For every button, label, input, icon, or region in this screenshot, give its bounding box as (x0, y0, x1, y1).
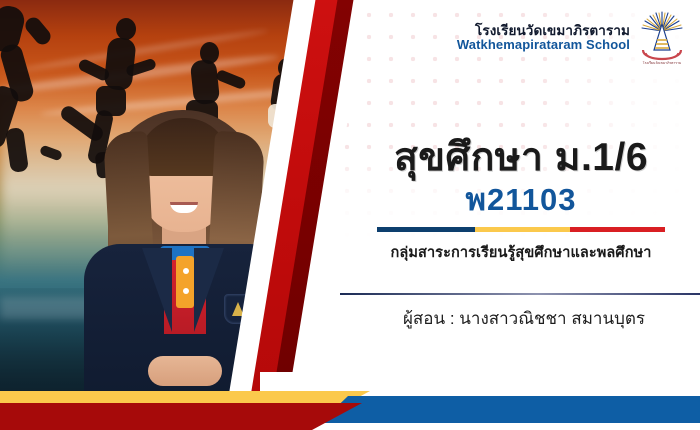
school-name-en: Watkhemapirataram School (457, 38, 630, 53)
horizontal-rule (340, 293, 700, 295)
divider-segment-yellow (475, 227, 570, 232)
school-royal-crest-logo: โรงเรียนวัดเขมาภิรตาราม (636, 10, 688, 66)
svg-text:โรงเรียนวัดเขมาภิรตาราม: โรงเรียนวัดเขมาภิรตาราม (643, 60, 681, 65)
portrait-lapel-right (194, 248, 224, 332)
slide-canvas: โรงเรียนวัดเขมาภิรตาราม Watkhemapiratara… (0, 0, 700, 430)
portrait-hands (148, 356, 222, 386)
teacher-label: ผู้สอน : นางสาวณิชชา สมานบุตร (350, 305, 698, 332)
divider-segment-navy (377, 227, 475, 232)
tricolor-divider (377, 227, 665, 232)
portrait-shirt-button (183, 288, 189, 294)
portrait-shirt-button (183, 268, 189, 274)
divider-segment-red (570, 227, 665, 232)
portrait-lapel-left (142, 248, 172, 332)
school-header: โรงเรียนวัดเขมาภิรตาราม Watkhemapiratara… (457, 10, 688, 66)
portrait-orange-placket (176, 256, 194, 308)
bottom-bar-red (0, 403, 362, 430)
school-name-group: โรงเรียนวัดเขมาภิรตาราม Watkhemapiratara… (457, 23, 630, 53)
bottom-bar-blue (320, 396, 700, 423)
department-label: กลุ่มสาระการเรียนรู้สุขศึกษาและพลศึกษา (350, 241, 692, 264)
course-title-block: สุขศึกษา ม.1/6 พ21103 กลุ่มสาระการเรียนร… (350, 136, 692, 264)
page-title: สุขศึกษา ม.1/6 (350, 136, 692, 180)
school-name-th: โรงเรียนวัดเขมาภิรตาราม (457, 23, 630, 38)
bottom-bar-yellow (0, 391, 370, 404)
course-code: พ21103 (350, 181, 692, 218)
